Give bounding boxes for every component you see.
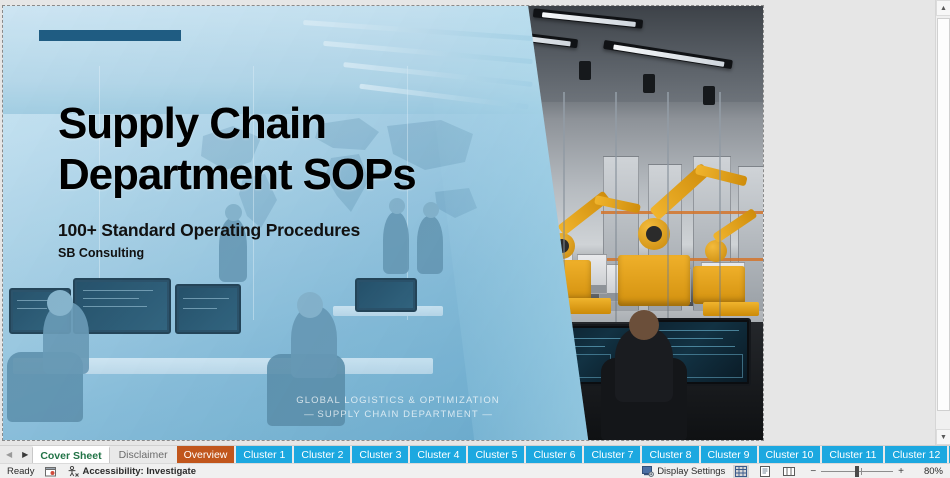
status-ready: Ready [7, 466, 34, 477]
display-settings-button[interactable]: Display Settings [642, 466, 725, 477]
sheet-tab-cluster-12[interactable]: Cluster 12 [885, 446, 947, 463]
normal-view-icon [735, 466, 747, 477]
caption-line-2: — SUPPLY CHAIN DEPARTMENT — [233, 408, 563, 422]
sheet-tab-label: Cluster 11 [829, 449, 876, 461]
slide-author: SB Consulting [58, 246, 144, 260]
caption-line-2-text: SUPPLY CHAIN DEPARTMENT [317, 409, 478, 420]
ceiling-light-icon [579, 61, 591, 80]
accessibility-label: Accessibility: Investigate [82, 466, 196, 477]
sheet-tab-cluster-11[interactable]: Cluster 11 [822, 446, 883, 463]
accent-bar [39, 30, 181, 41]
worksheet-canvas[interactable]: Supply Chain Department SOPs 100+ Standa… [0, 0, 950, 445]
sheet-tab-cluster-2[interactable]: Cluster 2 [294, 446, 350, 463]
sheet-tab-label: Cluster 12 [892, 449, 940, 461]
sheet-tab-cluster-3[interactable]: Cluster 3 [352, 446, 408, 463]
zoom-out-button[interactable]: − [805, 466, 821, 477]
sheet-tab-disclaimer[interactable]: Disclaimer [112, 446, 175, 463]
page-layout-view-button[interactable] [757, 465, 773, 478]
zoom-slider-midpoint [861, 468, 862, 475]
sheet-tab-cluster-1[interactable]: Cluster 1 [236, 446, 292, 463]
glass-mullion [719, 92, 721, 344]
slide-caption: GLOBAL LOGISTICS & OPTIMIZATION — SUPPLY… [233, 394, 563, 422]
accessibility-status[interactable]: Accessibility: Investigate [67, 466, 196, 477]
ceiling-light-icon [643, 74, 655, 93]
page-break-view-icon [783, 466, 795, 477]
zoom-in-button[interactable]: + [893, 466, 909, 477]
previous-sheet-icon[interactable]: ◀ [6, 451, 12, 459]
page-layout-view-icon [759, 466, 771, 477]
scroll-up-icon[interactable]: ▲ [936, 0, 950, 16]
glass-mullion [667, 92, 669, 344]
sheet-tab-label: Cluster 2 [301, 449, 343, 461]
scroll-down-icon[interactable]: ▼ [936, 429, 950, 445]
sheet-tab-label: Cluster 1 [243, 449, 285, 461]
zoom-slider[interactable]: − + [805, 466, 909, 477]
vertical-scroll-thumb[interactable] [937, 18, 950, 411]
sheet-tab-cluster-6[interactable]: Cluster 6 [526, 446, 582, 463]
sheet-tab-cluster-9[interactable]: Cluster 9 [701, 446, 757, 463]
display-settings-label: Display Settings [657, 466, 725, 477]
sheet-tab-cover-sheet[interactable]: Cover Sheet [32, 446, 109, 463]
sheet-tab-label: Disclaimer [119, 449, 168, 461]
sheet-tab-label: Cover Sheet [40, 450, 101, 462]
recording-icon[interactable] [45, 466, 56, 477]
accessibility-icon [67, 466, 79, 477]
glass-mullion [615, 92, 617, 344]
slide-title-line-2: Department SOPs [58, 149, 528, 200]
slide-title: Supply Chain Department SOPs [58, 98, 528, 200]
ceiling-light-icon [703, 86, 715, 105]
person-head [629, 310, 659, 340]
slide-subtitle: 100+ Standard Operating Procedures [58, 220, 360, 241]
sheet-tab-cluster-10[interactable]: Cluster 10 [759, 446, 821, 463]
sheet-tab-label: Cluster 3 [359, 449, 401, 461]
normal-view-button[interactable] [733, 465, 749, 478]
page-break-view-button[interactable] [781, 465, 797, 478]
agv-vehicle [703, 302, 759, 316]
sheet-tab-label: Cluster 5 [475, 449, 517, 461]
slide-title-line-1: Supply Chain [58, 98, 528, 149]
robotic-arm [618, 156, 690, 306]
sheet-tab-label: Cluster 8 [649, 449, 691, 461]
sheet-tab-cluster-8[interactable]: Cluster 8 [642, 446, 698, 463]
slide-image-object[interactable]: Supply Chain Department SOPs 100+ Standa… [3, 6, 763, 440]
sheet-tab-label: Cluster 10 [766, 449, 814, 461]
sheet-nav-buttons[interactable]: ◀ ▶ [0, 446, 32, 463]
sheet-tab-label: Overview [184, 449, 228, 461]
sheet-tab-bar[interactable]: ◀ ▶ Cover SheetDisclaimerOverviewCluster… [0, 445, 950, 463]
next-sheet-icon[interactable]: ▶ [22, 451, 28, 459]
vertical-scrollbar[interactable]: ▲ ▼ [935, 0, 950, 445]
display-settings-icon [642, 466, 654, 477]
caption-dash-left: — [304, 409, 314, 420]
sheet-tabs[interactable]: Cover SheetDisclaimerOverviewCluster 1Cl… [32, 446, 950, 463]
zoom-level-label[interactable]: 80% [917, 466, 943, 477]
zoom-slider-track[interactable] [821, 466, 893, 477]
sheet-tab-overview[interactable]: Overview [177, 446, 235, 463]
sheet-tab-cluster-7[interactable]: Cluster 7 [584, 446, 640, 463]
sheet-tab-label: Cluster 7 [591, 449, 633, 461]
status-bar[interactable]: Ready Accessibility: Investigate [0, 463, 950, 478]
zoom-slider-thumb[interactable] [855, 466, 859, 477]
sheet-tab-cluster-5[interactable]: Cluster 5 [468, 446, 524, 463]
caption-line-1: GLOBAL LOGISTICS & OPTIMIZATION [233, 394, 563, 408]
sheet-tab-label: Cluster 6 [533, 449, 575, 461]
sheet-tab-label: Cluster 4 [417, 449, 459, 461]
caption-dash-right: — [482, 409, 492, 420]
record-macro-glyph [45, 466, 56, 477]
sheet-tab-label: Cluster 9 [708, 449, 750, 461]
sheet-tab-cluster-4[interactable]: Cluster 4 [410, 446, 466, 463]
